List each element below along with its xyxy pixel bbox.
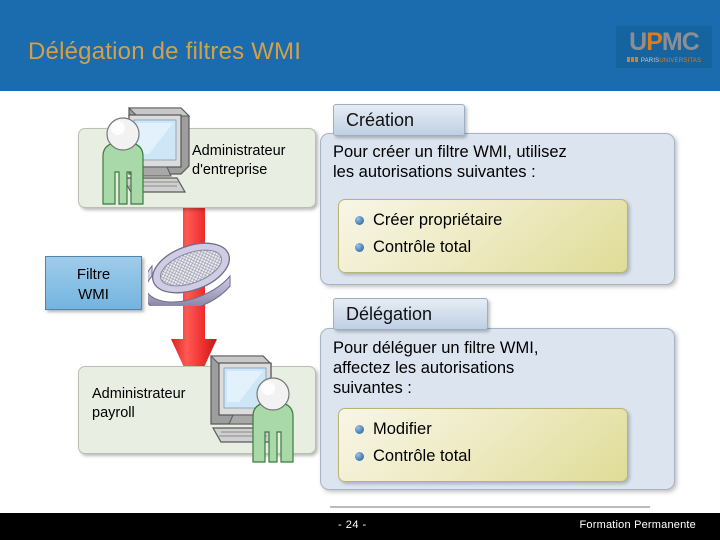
actor-label-payroll-admin: Administrateur payroll: [92, 385, 185, 423]
list-item: Modifier: [339, 416, 627, 443]
bullet-dot-icon: [355, 452, 364, 461]
footer-organization: Formation Permanente: [580, 519, 697, 531]
bullet-label: Modifier: [373, 420, 432, 439]
panel-intro-creation: Pour créer un filtre WMI, utilisez les a…: [333, 142, 567, 182]
panel-tab-creation[interactable]: Création: [333, 104, 465, 136]
panel-tab-delegation[interactable]: Délégation: [333, 298, 488, 330]
logo-letters-mc: MC: [662, 28, 699, 56]
logo-letter-p: P: [646, 28, 662, 56]
logo-squares-icon: [627, 57, 639, 64]
bullet-label: Contrôle total: [373, 238, 471, 257]
list-item: Contrôle total: [339, 443, 627, 470]
computer-user-icon: [205, 350, 315, 465]
bullet-dot-icon: [355, 425, 364, 434]
bullet-box-delegation: Modifier Contrôle total: [338, 408, 628, 482]
filter-label-wmi: Filtre WMI: [46, 265, 141, 306]
upmc-logo: UPMC PARISUNIVERSITAS: [616, 26, 712, 68]
logo-subtitle-paris: PARIS: [641, 58, 660, 64]
logo-subtitle-universitas: UNIVERSITAS: [659, 58, 701, 64]
page-title: Délégation de filtres WMI: [28, 38, 301, 66]
panel-intro-delegation: Pour déléguer un filtre WMI, affectez le…: [333, 338, 538, 398]
sieve-icon: [148, 238, 234, 306]
logo-letter-u: U: [629, 28, 646, 56]
bullet-dot-icon: [355, 216, 364, 225]
bullet-label: Contrôle total: [373, 447, 471, 466]
actor-label-enterprise-admin: Administrateur d'entreprise: [192, 142, 285, 180]
footer-page-number: - 24 -: [338, 519, 367, 531]
filter-box-wmi: Filtre WMI: [45, 256, 142, 310]
bullet-dot-icon: [355, 243, 364, 252]
logo-wordmark: UPMC: [629, 30, 699, 55]
list-item: Contrôle total: [339, 234, 627, 261]
computer-user-icon: [85, 104, 195, 209]
bullet-box-creation: Créer propriétaire Contrôle total: [338, 199, 628, 273]
list-item: Créer propriétaire: [339, 207, 627, 234]
bullet-label: Créer propriétaire: [373, 211, 502, 230]
footer-bar: - 24 - Formation Permanente: [0, 513, 720, 540]
logo-subtitle: PARISUNIVERSITAS: [627, 57, 701, 64]
footer-divider: [330, 506, 650, 508]
